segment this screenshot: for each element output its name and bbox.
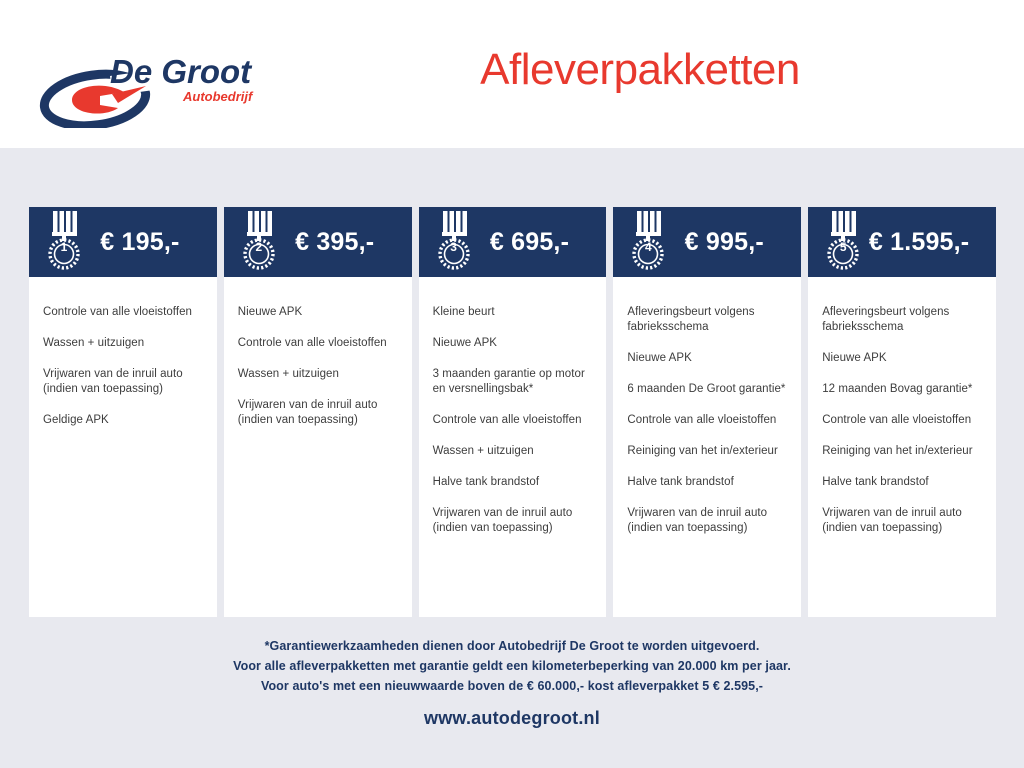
package-feature-item: Nieuwe APK	[822, 351, 982, 366]
package-card-header: 5€ 1.595,-	[808, 207, 996, 277]
footer-line: Voor alle afleverpakketten met garantie …	[0, 656, 1024, 676]
package-feature-item: Nieuwe APK	[627, 351, 787, 366]
package-feature-item: Nieuwe APK	[238, 305, 398, 320]
package-feature-item: Reiniging van het in/exterieur	[627, 444, 787, 459]
package-feature-list: Nieuwe APKControle van alle vloeistoffen…	[224, 277, 412, 617]
package-card[interactable]: 2€ 395,-Nieuwe APKControle van alle vloe…	[224, 207, 412, 617]
package-feature-item: Wassen + uitzuigen	[43, 336, 203, 351]
package-cards-container: 1€ 195,-Controle van alle vloeistoffenWa…	[29, 207, 996, 617]
package-card[interactable]: 4€ 995,-Afleveringsbeurt volgens fabriek…	[613, 207, 801, 617]
footer-disclaimer: *Garantiewerkzaamheden dienen door Autob…	[0, 636, 1024, 696]
page-root: De Groot Autobedrijf Afleverpakketten 1€…	[0, 0, 1024, 768]
package-feature-item: Wassen + uitzuigen	[238, 367, 398, 382]
package-card-header: 4€ 995,-	[613, 207, 801, 277]
package-feature-item: Vrijwaren van de inruil auto (indien van…	[238, 398, 398, 428]
package-feature-item: Vrijwaren van de inruil auto (indien van…	[43, 367, 203, 397]
medal-icon: 3	[433, 205, 475, 277]
package-feature-item: Afleveringsbeurt volgens fabrieksschema	[627, 305, 787, 335]
package-card[interactable]: 3€ 695,-Kleine beurtNieuwe APK3 maanden …	[419, 207, 607, 617]
package-feature-item: Controle van alle vloeistoffen	[238, 336, 398, 351]
package-feature-item: Vrijwaren van de inruil auto (indien van…	[433, 506, 593, 536]
logo-tagline-text: Autobedrijf	[182, 89, 254, 104]
package-feature-item: Afleveringsbeurt volgens fabrieksschema	[822, 305, 982, 335]
footer-line: *Garantiewerkzaamheden dienen door Autob…	[0, 636, 1024, 656]
package-card-header: 3€ 695,-	[419, 207, 607, 277]
package-feature-item: Halve tank brandstof	[822, 475, 982, 490]
package-feature-item: Controle van alle vloeistoffen	[43, 305, 203, 320]
medal-icon: 4	[627, 205, 669, 277]
website-link[interactable]: www.autodegroot.nl	[0, 708, 1024, 729]
package-feature-item: Halve tank brandstof	[627, 475, 787, 490]
package-card-header: 1€ 195,-	[29, 207, 217, 277]
package-feature-item: 6 maanden De Groot garantie*	[627, 382, 787, 397]
package-feature-list: Controle van alle vloeistoffenWassen + u…	[29, 277, 217, 617]
package-feature-item: Kleine beurt	[433, 305, 593, 320]
package-card[interactable]: 1€ 195,-Controle van alle vloeistoffenWa…	[29, 207, 217, 617]
medal-icon: 2	[238, 205, 280, 277]
package-feature-item: Vrijwaren van de inruil auto (indien van…	[627, 506, 787, 536]
header-band: De Groot Autobedrijf Afleverpakketten	[0, 0, 1024, 148]
package-card[interactable]: 5€ 1.595,-Afleveringsbeurt volgens fabri…	[808, 207, 996, 617]
package-feature-item: Nieuwe APK	[433, 336, 593, 351]
medal-icon: 1	[43, 205, 85, 277]
package-feature-item: Geldige APK	[43, 413, 203, 428]
page-title: Afleverpakketten	[330, 45, 950, 95]
package-feature-item: Controle van alle vloeistoffen	[433, 413, 593, 428]
package-feature-item: Halve tank brandstof	[433, 475, 593, 490]
package-feature-item: Vrijwaren van de inruil auto (indien van…	[822, 506, 982, 536]
package-feature-item: Reiniging van het in/exterieur	[822, 444, 982, 459]
logo-svg: De Groot Autobedrijf	[38, 48, 268, 128]
package-feature-list: Afleveringsbeurt volgens fabrieksschemaN…	[613, 277, 801, 617]
medal-icon: 5	[822, 205, 864, 277]
company-logo: De Groot Autobedrijf	[38, 48, 268, 128]
logo-brand-text: De Groot	[110, 53, 253, 90]
package-feature-item: 3 maanden garantie op motor en versnelli…	[433, 367, 593, 397]
package-feature-item: Controle van alle vloeistoffen	[822, 413, 982, 428]
package-feature-item: 12 maanden Bovag garantie*	[822, 382, 982, 397]
footer-line: Voor auto's met een nieuwwaarde boven de…	[0, 676, 1024, 696]
package-feature-list: Afleveringsbeurt volgens fabrieksschemaN…	[808, 277, 996, 617]
package-feature-item: Wassen + uitzuigen	[433, 444, 593, 459]
package-feature-list: Kleine beurtNieuwe APK3 maanden garantie…	[419, 277, 607, 617]
package-card-header: 2€ 395,-	[224, 207, 412, 277]
package-feature-item: Controle van alle vloeistoffen	[627, 413, 787, 428]
